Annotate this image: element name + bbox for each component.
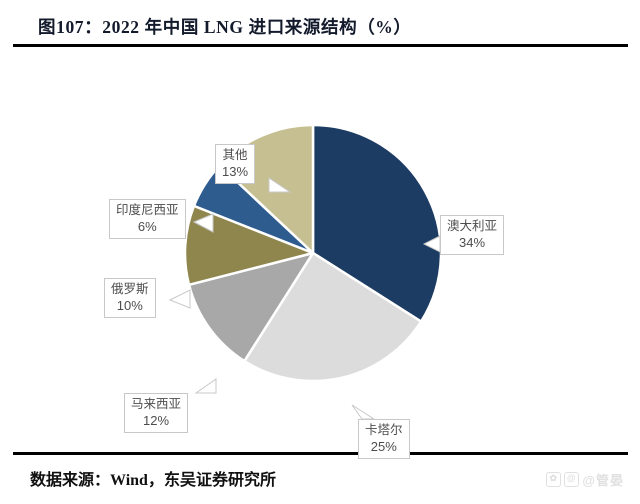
pie-label-australia-value: 34% [447,235,497,250]
pie-label-australia: 澳大利亚 34% [440,215,504,255]
pie-label-malaysia-name: 马来西亚 [131,397,181,412]
pie-label-russia: 俄罗斯 10% [104,278,156,318]
pie-label-qatar-name: 卡塔尔 [365,423,403,438]
pie-label-indonesia-name: 印度尼西亚 [116,203,179,218]
pie-label-indonesia: 印度尼西亚 6% [109,199,186,239]
watermark: ✿ @ @管晏 [546,470,624,489]
pie-label-indonesia-value: 6% [116,219,179,234]
pie-label-russia-name: 俄罗斯 [111,282,149,297]
pie-label-qatar: 卡塔尔 25% [358,419,410,459]
pie-label-russia-value: 10% [111,298,149,313]
pie-label-malaysia-value: 12% [131,413,181,428]
pie-label-malaysia: 马来西亚 12% [124,393,188,433]
watermark-at-icon: @ [564,472,579,487]
watermark-logo-icon: ✿ [546,472,561,487]
pie-label-other-value: 13% [222,164,248,179]
pie-label-other-name: 其他 [222,148,248,163]
page-title: 图107：2022 年中国 LNG 进口来源结构（%） [38,14,412,39]
source-note: 数据来源：Wind，东吴证券研究所 [30,466,276,490]
pie-chart: 澳大利亚 34%卡塔尔 25%马来西亚 12%俄罗斯 10%印度尼西亚 6%其他… [0,52,640,448]
header-divider [13,44,628,47]
pie-chart-svg: 澳大利亚 34%卡塔尔 25%马来西亚 12%俄罗斯 10%印度尼西亚 6%其他… [0,52,640,448]
watermark-text: @管晏 [582,470,624,489]
pie-label-qatar-value: 25% [365,439,403,454]
pie-label-other: 其他 13% [215,144,255,184]
pie-label-australia-name: 澳大利亚 [447,219,497,234]
footer-divider [13,452,628,455]
